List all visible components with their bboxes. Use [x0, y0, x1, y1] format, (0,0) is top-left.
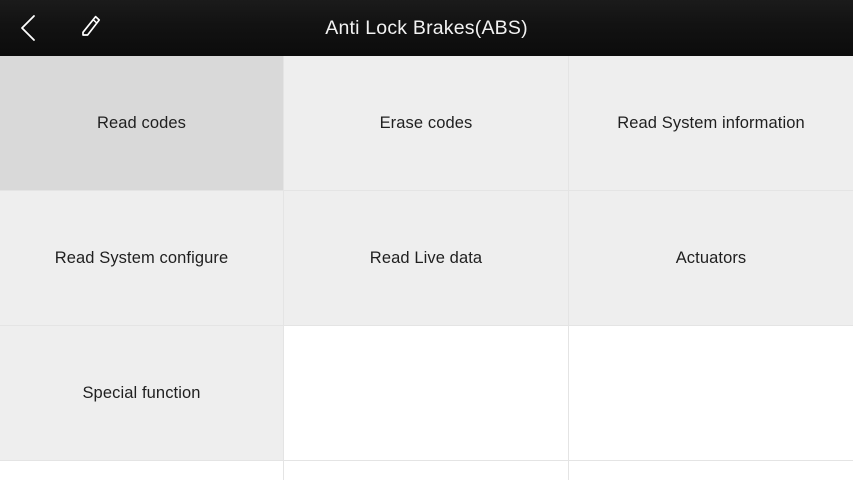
- diagnostic-menu-screen: Anti Lock Brakes(ABS) Read codes Erase c…: [0, 0, 853, 480]
- menu-item-empty: [0, 461, 284, 480]
- chevron-left-icon: [17, 13, 39, 43]
- pencil-icon: [77, 13, 103, 43]
- back-button[interactable]: [2, 0, 54, 56]
- function-grid: Read codes Erase codes Read System infor…: [0, 56, 853, 480]
- menu-item-label: Read System configure: [55, 248, 229, 269]
- menu-item-read-codes[interactable]: Read codes: [0, 56, 284, 191]
- menu-item-label: Actuators: [676, 248, 747, 269]
- menu-item-read-system-configure[interactable]: Read System configure: [0, 191, 284, 326]
- menu-item-read-system-information[interactable]: Read System information: [569, 56, 853, 191]
- menu-item-label: Special function: [82, 383, 200, 404]
- menu-item-label: Read codes: [97, 113, 186, 134]
- menu-item-empty: [284, 326, 569, 461]
- menu-item-read-live-data[interactable]: Read Live data: [284, 191, 569, 326]
- menu-item-empty: [569, 326, 853, 461]
- menu-item-label: Read System information: [617, 113, 805, 134]
- edit-button[interactable]: [64, 0, 116, 56]
- menu-item-actuators[interactable]: Actuators: [569, 191, 853, 326]
- page-title: Anti Lock Brakes(ABS): [0, 0, 853, 56]
- title-bar-actions: [0, 0, 116, 56]
- menu-item-label: Read Live data: [370, 248, 482, 269]
- menu-item-special-function[interactable]: Special function: [0, 326, 284, 461]
- title-bar: Anti Lock Brakes(ABS): [0, 0, 853, 56]
- menu-item-empty: [569, 461, 853, 480]
- menu-item-empty: [284, 461, 569, 480]
- menu-item-label: Erase codes: [380, 113, 473, 134]
- menu-item-erase-codes[interactable]: Erase codes: [284, 56, 569, 191]
